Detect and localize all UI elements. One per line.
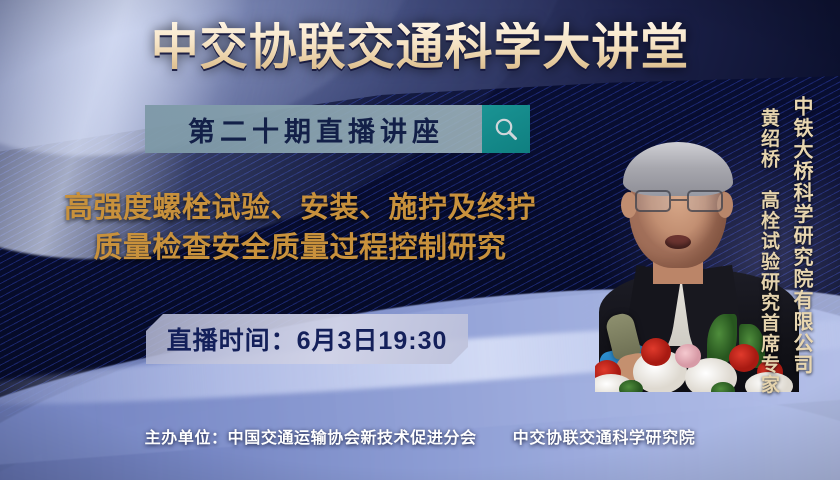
lecture-topic-line-1: 高强度螺栓试验、安装、施拧及终拧 (0, 188, 600, 228)
portrait-hair (623, 142, 733, 196)
organizer-footer: 主办单位：中国交通运输协会新技术促进分会 中交协联交通科学研究院 (0, 424, 840, 448)
broadcast-time-badge: 直播时间：6月3日19:30 (146, 314, 468, 364)
portrait-glasses (633, 190, 725, 212)
speaker-name-title: 黄绍桥 高栓试验研究首席专家 (755, 108, 782, 395)
page-title: 中交协联交通科学大讲堂 (17, 22, 823, 72)
speaker-company: 中铁大桥科学研究院有限公司 (787, 96, 816, 376)
lecture-topic-line-2: 质量检查安全质量过程控制研究 (0, 228, 600, 268)
portrait-mouth (665, 235, 691, 249)
live-broadcast-poster: 中交协联交通科学大讲堂 第二十期直播讲座 高强度螺栓试验、安装、施拧及终拧 质量… (0, 0, 840, 480)
search-icon[interactable] (482, 105, 530, 153)
session-bar: 第二十期直播讲座 (145, 105, 530, 153)
session-label: 第二十期直播讲座 (145, 105, 482, 153)
organizer-primary: 主办单位：中国交通运输协会新技术促进分会 (145, 430, 477, 447)
lecture-topic: 高强度螺栓试验、安装、施拧及终拧 质量检查安全质量过程控制研究 (0, 188, 600, 268)
organizer-secondary: 中交协联交通科学研究院 (513, 430, 696, 447)
